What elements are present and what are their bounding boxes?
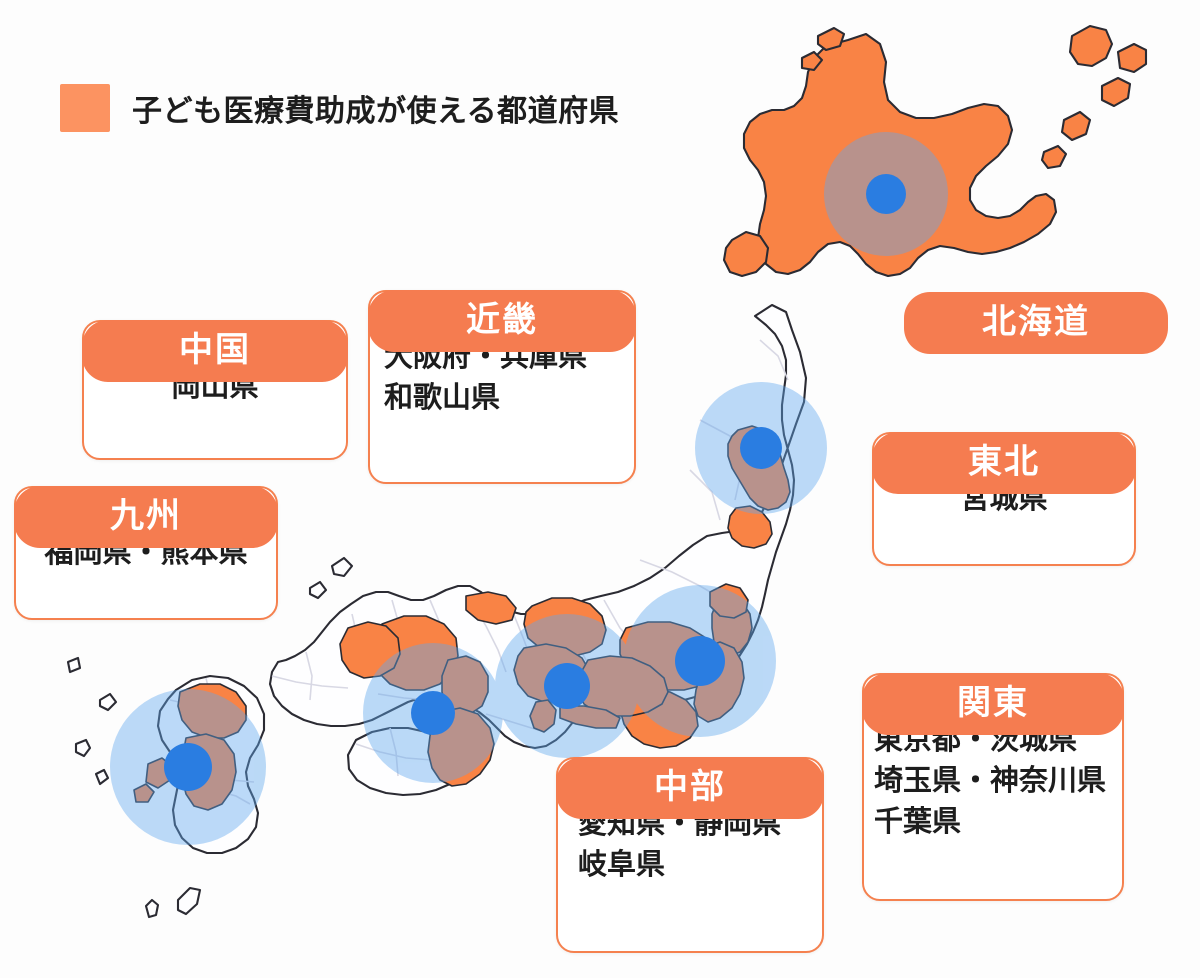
legend-label: 子ども医療費助成が使える都道府県 xyxy=(132,86,619,130)
marker-kyushu xyxy=(164,743,212,791)
callout-hokkaido[interactable]: 北海道 xyxy=(904,292,1168,354)
marker-hokkaido xyxy=(866,174,906,214)
callout-kinki-line-2: 和歌山県 xyxy=(384,377,616,418)
callout-kanto-line-3: 千葉県 xyxy=(874,801,1104,842)
callout-chubu[interactable]: 中部 愛知県・静岡県 岐阜県 xyxy=(556,757,824,953)
legend: 子ども医療費助成が使える都道府県 xyxy=(60,84,619,132)
callout-kanto-line-2: 埼玉県・神奈川県 xyxy=(874,760,1104,801)
callout-kanto[interactable]: 関東 東京都・茨城県 埼玉県・神奈川県 千葉県 xyxy=(862,673,1124,901)
callout-kanto-title: 関東 xyxy=(862,673,1124,735)
callout-chubu-title: 中部 xyxy=(556,757,824,819)
callout-kinki-title: 近畿 xyxy=(368,290,636,352)
marker-chubu xyxy=(544,663,590,709)
callout-tohoku-title: 東北 xyxy=(872,432,1136,494)
callout-chugoku[interactable]: 中国 岡山県 xyxy=(82,320,348,460)
callout-hokkaido-title: 北海道 xyxy=(904,292,1168,354)
callout-chubu-line-2: 岐阜県 xyxy=(578,844,804,885)
callout-kyushu-title: 九州 xyxy=(14,486,278,548)
callout-kyushu[interactable]: 九州 福岡県・熊本県 xyxy=(14,486,278,620)
legend-color-swatch xyxy=(60,84,110,132)
callout-kinki[interactable]: 近畿 大阪府・兵庫県 和歌山県 xyxy=(368,290,636,484)
marker-kanto xyxy=(675,636,725,686)
callout-tohoku[interactable]: 東北 宮城県 xyxy=(872,432,1136,566)
region-hokkaido-highlight xyxy=(724,26,1146,276)
callout-chugoku-title: 中国 xyxy=(82,320,348,382)
marker-tohoku xyxy=(740,427,782,469)
infographic-canvas: 子ども医療費助成が使える都道府県 中国 岡山県 近畿 大阪府・兵庫県 和歌山県 … xyxy=(0,0,1200,978)
marker-kinki xyxy=(411,691,455,735)
